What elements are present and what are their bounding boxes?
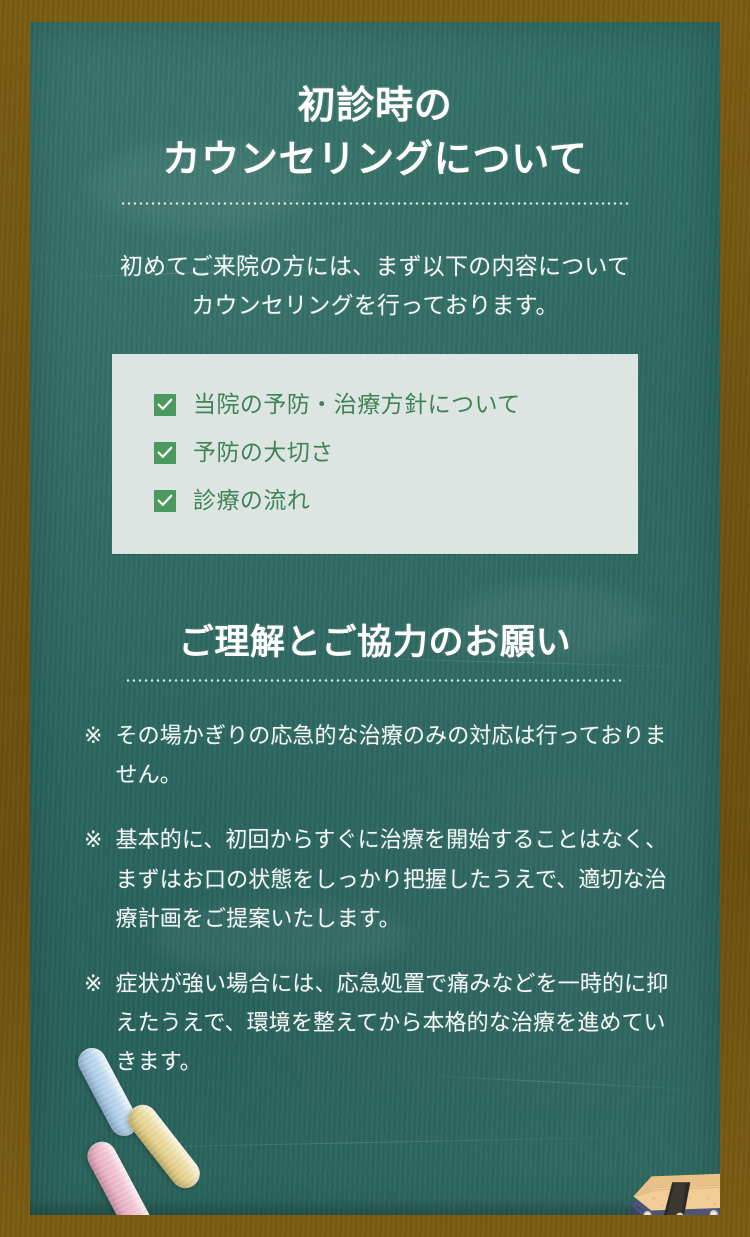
wooden-frame: 初診時の カウンセリングについて 初めてご来院の方には、まず以下の内容について … — [0, 0, 750, 1237]
check-icon — [154, 442, 176, 464]
board-content: 初診時の カウンセリングについて 初めてご来院の方には、まず以下の内容について … — [30, 22, 720, 1081]
chalkboard: 初診時の カウンセリングについて 初めてご来院の方には、まず以下の内容について … — [30, 22, 720, 1215]
note-text: 基本的に、初回からすぐに治療を開始することはなく、まずはお口の状態をしっかり把握… — [116, 820, 670, 937]
list-item: ※ 症状が強い場合には、応急処置で痛みなどを一時的に抑えたうえで、環境を整えてか… — [84, 964, 670, 1081]
check-icon — [154, 394, 176, 416]
list-item: 診療の流れ — [154, 486, 638, 516]
note-mark-icon: ※ — [84, 820, 103, 859]
section-dotted-divider — [125, 679, 625, 682]
list-item: 当院の予防・治療方針について — [154, 390, 638, 420]
section-title: ご理解とご協力のお願い — [60, 620, 690, 666]
checklist-item-label: 当院の予防・治療方針について — [193, 390, 521, 420]
notes-list: ※ その場かぎりの応急的な治療のみの対応は行っておりません。 ※ 基本的に、初回… — [60, 716, 690, 1081]
checklist-item-label: 診療の流れ — [193, 486, 310, 516]
title-line-1: 初診時の — [60, 80, 690, 134]
check-icon — [154, 490, 176, 512]
list-item: ※ 基本的に、初回からすぐに治療を開始することはなく、まずはお口の状態をしっかり… — [84, 820, 670, 937]
lead-paragraph: 初めてご来院の方には、まず以下の内容について カウンセリングを行っております。 — [60, 247, 690, 326]
checklist: 当院の予防・治療方針について 予防の大切さ — [112, 390, 638, 516]
list-item: 予防の大切さ — [154, 438, 638, 468]
note-text: その場かぎりの応急的な治療のみの対応は行っておりません。 — [116, 716, 670, 794]
yellow-chalk-icon — [122, 1099, 205, 1194]
note-mark-icon: ※ — [84, 964, 103, 1003]
blackboard-eraser-icon — [616, 1152, 720, 1215]
section-heading: ご理解とご協力のお願い — [60, 620, 690, 683]
list-item: ※ その場かぎりの応急的な治療のみの対応は行っておりません。 — [84, 716, 670, 794]
lead-line-1: 初めてご来院の方には、まず以下の内容について — [60, 247, 690, 287]
lead-line-2: カウンセリングを行っております。 — [60, 286, 690, 326]
checklist-item-label: 予防の大切さ — [193, 438, 334, 468]
note-text: 症状が強い場合には、応急処置で痛みなどを一時的に抑えたうえで、環境を整えてから本… — [116, 964, 670, 1081]
page-title: 初診時の カウンセリングについて — [60, 22, 690, 205]
title-line-2: カウンセリングについて — [60, 134, 690, 188]
title-dotted-divider — [120, 202, 630, 205]
checklist-card: 当院の予防・治療方針について 予防の大切さ — [112, 354, 638, 554]
note-mark-icon: ※ — [84, 716, 103, 755]
